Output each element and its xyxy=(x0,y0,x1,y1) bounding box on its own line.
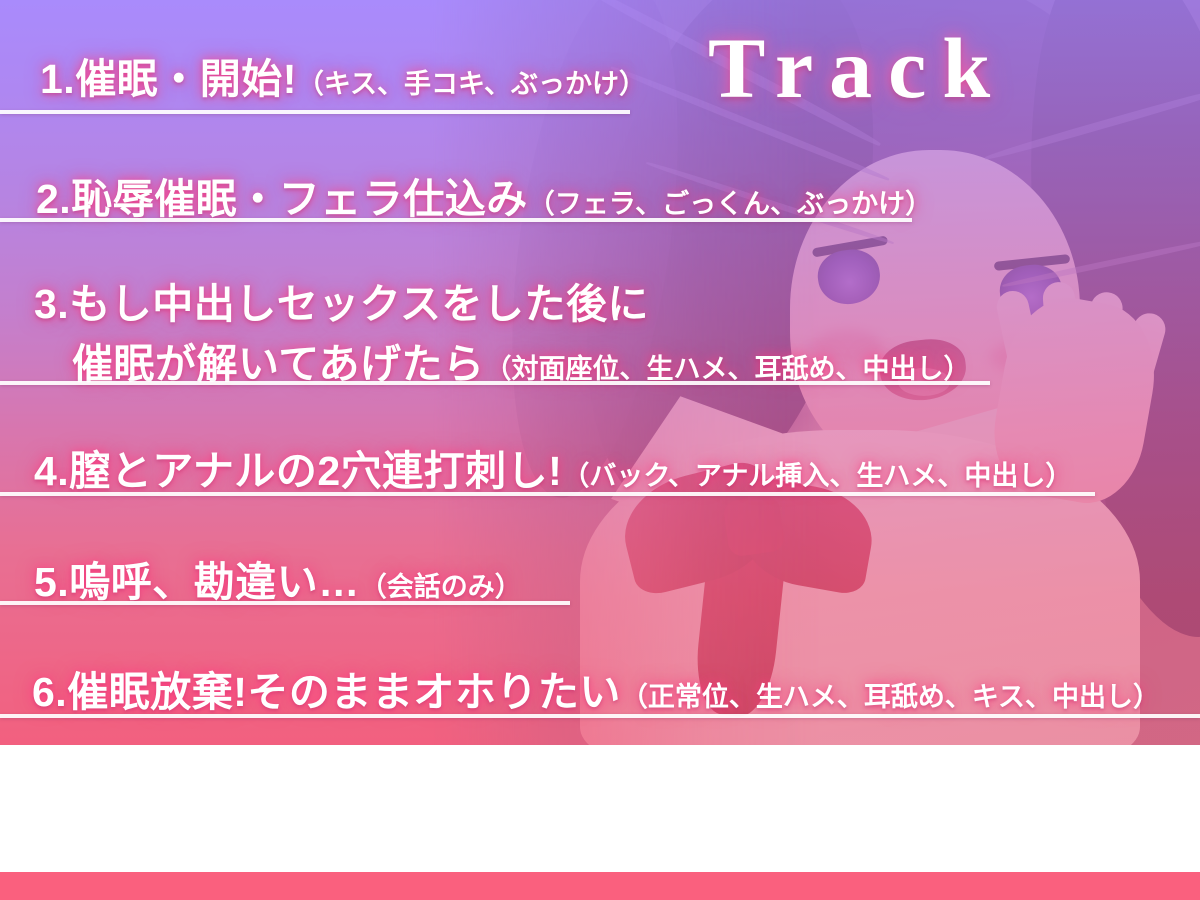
divider-5 xyxy=(0,601,570,605)
bottom-bar xyxy=(0,872,1200,900)
track-row-5[interactable]: 5.嗚呼、勘違い…（会話のみ） xyxy=(34,548,1200,608)
divider-2 xyxy=(0,218,912,222)
track-row-2[interactable]: 2.恥辱催眠・フェラ仕込み（フェラ、ごっくん、ぶっかけ） xyxy=(36,165,1200,225)
track-5-title: 5.嗚呼、勘違い… xyxy=(34,559,360,605)
track-2-tags: （フェラ、ごっくん、ぶっかけ） xyxy=(528,189,932,219)
track-5-tags: （会話のみ） xyxy=(360,572,522,602)
divider-1 xyxy=(0,110,630,114)
track-4-title: 4.膣とアナルの2穴連打刺し! xyxy=(34,448,562,494)
track-list-poster: Track 1.催眠・開始!（キス、手コキ、ぶっかけ） 2.恥辱催眠・フェラ仕込… xyxy=(0,0,1200,900)
divider-4 xyxy=(0,492,1095,496)
track-3-title-line-1: 3.もし中出しセックスをした後に xyxy=(34,270,1200,330)
track-3-tags: （対面座位、生ハメ、耳舐め、中出し） xyxy=(485,354,971,384)
track-1-title: 1.催眠・開始! xyxy=(40,56,297,102)
track-2-title: 2.恥辱催眠・フェラ仕込み xyxy=(36,176,528,222)
divider-6 xyxy=(0,714,1200,718)
track-6-title: 6.催眠放棄!そのままオホりたい xyxy=(32,669,621,715)
track-4-tags: （バック、アナル挿入、生ハメ、中出し） xyxy=(562,461,1072,491)
track-6-tags: （正常位、生ハメ、耳舐め、キス、中出し） xyxy=(621,682,1160,712)
divider-3 xyxy=(0,381,990,385)
track-1-tags: （キス、手コキ、ぶっかけ） xyxy=(297,69,646,99)
track-row-6[interactable]: 6.催眠放棄!そのままオホりたい（正常位、生ハメ、耳舐め、キス、中出し） xyxy=(32,658,1200,718)
track-list: 1.催眠・開始!（キス、手コキ、ぶっかけ） 2.恥辱催眠・フェラ仕込み（フェラ、… xyxy=(0,0,1200,745)
track-row-4[interactable]: 4.膣とアナルの2穴連打刺し!（バック、アナル挿入、生ハメ、中出し） xyxy=(34,437,1200,497)
track-row-1[interactable]: 1.催眠・開始!（キス、手コキ、ぶっかけ） xyxy=(40,45,1200,105)
bonus-track-section: ボーナストラック 〜催眠はないのにドスケベすぎる 真面目JKの中出しプレイ〜 耳… xyxy=(0,745,1200,872)
track-row-3[interactable]: 3.もし中出しセックスをした後に 催眠が解いてあげたら（対面座位、生ハメ、耳舐め… xyxy=(34,270,1200,390)
